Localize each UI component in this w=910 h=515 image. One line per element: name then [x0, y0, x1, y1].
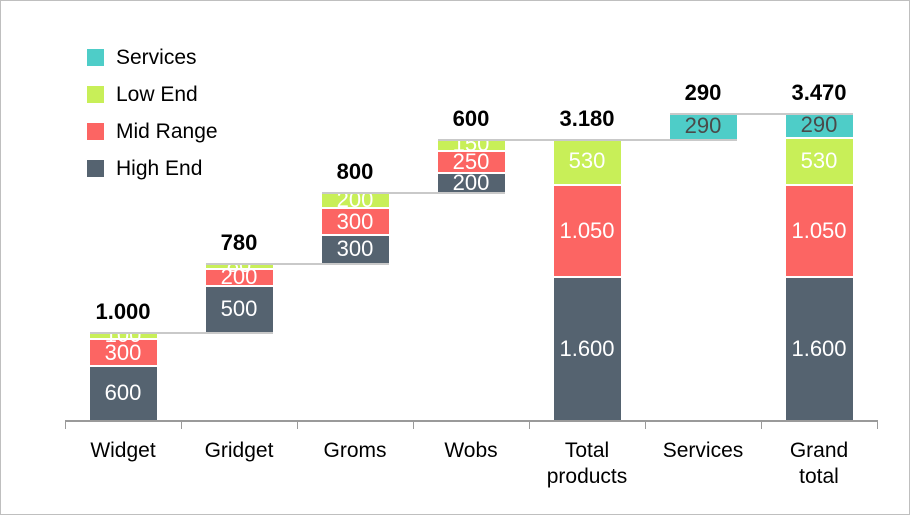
x-axis-line: [65, 420, 877, 422]
bar-total-label: 780: [206, 230, 273, 256]
x-axis-tick: [65, 420, 66, 429]
bar-segment-value: 1.600: [791, 338, 846, 360]
bar-total-products[interactable]: 1.6001.050530: [554, 139, 621, 420]
bar-segment-mid-range[interactable]: 1.050: [554, 186, 621, 279]
bar-segment-services[interactable]: 290: [670, 113, 737, 139]
waterfall-connector: [670, 113, 853, 115]
bar-segment-value: 1.050: [791, 220, 846, 242]
bar-segment-value: 200: [453, 172, 490, 194]
bar-segment-mid-range[interactable]: 1.050: [786, 186, 853, 279]
waterfall-connector: [206, 263, 389, 265]
x-axis-label-groms: Groms: [297, 438, 413, 464]
bar-segment-mid-range[interactable]: 300: [322, 209, 389, 236]
x-axis-tick: [877, 420, 878, 429]
x-axis-label-line: Gridget: [181, 438, 297, 464]
x-axis-label-services: Services: [645, 438, 761, 464]
x-axis-label-total-products: Totalproducts: [529, 438, 645, 490]
x-axis-label-line: Total: [529, 438, 645, 464]
waterfall-connector: [554, 139, 737, 141]
bar-segment-value: 500: [221, 298, 258, 320]
x-axis-label-line: Grand: [761, 438, 877, 464]
bar-segment-high-end[interactable]: 1.600: [554, 278, 621, 420]
bar-segment-high-end[interactable]: 300: [322, 236, 389, 263]
bar-segment-value: 1.600: [559, 338, 614, 360]
x-axis-tick: [761, 420, 762, 429]
bar-grand-total[interactable]: 1.6001.050530290: [786, 113, 853, 420]
x-axis-tick: [181, 420, 182, 429]
bar-segment-value: 80: [227, 254, 251, 276]
bar-segment-value: 530: [801, 150, 838, 172]
bar-segment-value: 530: [569, 150, 606, 172]
x-axis-label-widget: Widget: [65, 438, 181, 464]
x-axis-tick: [297, 420, 298, 429]
bar-segment-value: 290: [801, 114, 838, 136]
bar-total-label: 3.180: [554, 106, 621, 132]
bar-total-label: 290: [670, 80, 737, 106]
bar-total-label: 3.470: [786, 80, 853, 106]
bar-segment-value: 150: [453, 133, 490, 155]
x-axis-label-line: Widget: [65, 438, 181, 464]
bar-wobs[interactable]: 200250150: [438, 139, 505, 192]
bar-widget[interactable]: 600300100: [90, 332, 157, 420]
x-axis-label-line: Groms: [297, 438, 413, 464]
waterfall-connector: [322, 192, 505, 194]
bar-segment-value: 600: [105, 382, 142, 404]
bar-segment-value: 290: [685, 115, 722, 137]
bar-services[interactable]: 290: [670, 113, 737, 139]
x-axis-label-line: total: [761, 464, 877, 490]
bar-total-label: 600: [438, 106, 505, 132]
bar-segment-high-end[interactable]: 200: [438, 174, 505, 192]
x-axis-label-wobs: Wobs: [413, 438, 529, 464]
x-axis-tick: [413, 420, 414, 429]
x-axis-label-line: Wobs: [413, 438, 529, 464]
x-axis-label-line: Services: [645, 438, 761, 464]
bar-segment-low-end[interactable]: 530: [786, 139, 853, 186]
x-axis-label-gridget: Gridget: [181, 438, 297, 464]
bar-segment-value: 300: [337, 238, 374, 260]
x-axis-tick: [645, 420, 646, 429]
x-axis-tick: [529, 420, 530, 429]
bar-segment-high-end[interactable]: 500: [206, 287, 273, 331]
bar-segment-value: 1.050: [559, 220, 614, 242]
bar-segment-low-end[interactable]: 530: [554, 139, 621, 186]
bar-segment-value: 100: [105, 324, 142, 346]
bar-segment-low-end[interactable]: 200: [322, 192, 389, 210]
bar-groms[interactable]: 300300200: [322, 192, 389, 263]
bar-segment-high-end[interactable]: 600: [90, 367, 157, 420]
bar-total-label: 800: [322, 159, 389, 185]
x-axis-label-line: products: [529, 464, 645, 490]
bar-segment-high-end[interactable]: 1.600: [786, 278, 853, 420]
x-axis-label-grand-total: Grandtotal: [761, 438, 877, 490]
bar-gridget[interactable]: 50020080: [206, 263, 273, 332]
chart-container: ServicesLow EndMid RangeHigh End 6003001…: [0, 0, 910, 515]
bar-total-label: 1.000: [90, 299, 157, 325]
waterfall-connector: [90, 332, 273, 334]
bar-segment-value: 300: [337, 211, 374, 233]
bar-segment-services[interactable]: 290: [786, 113, 853, 139]
